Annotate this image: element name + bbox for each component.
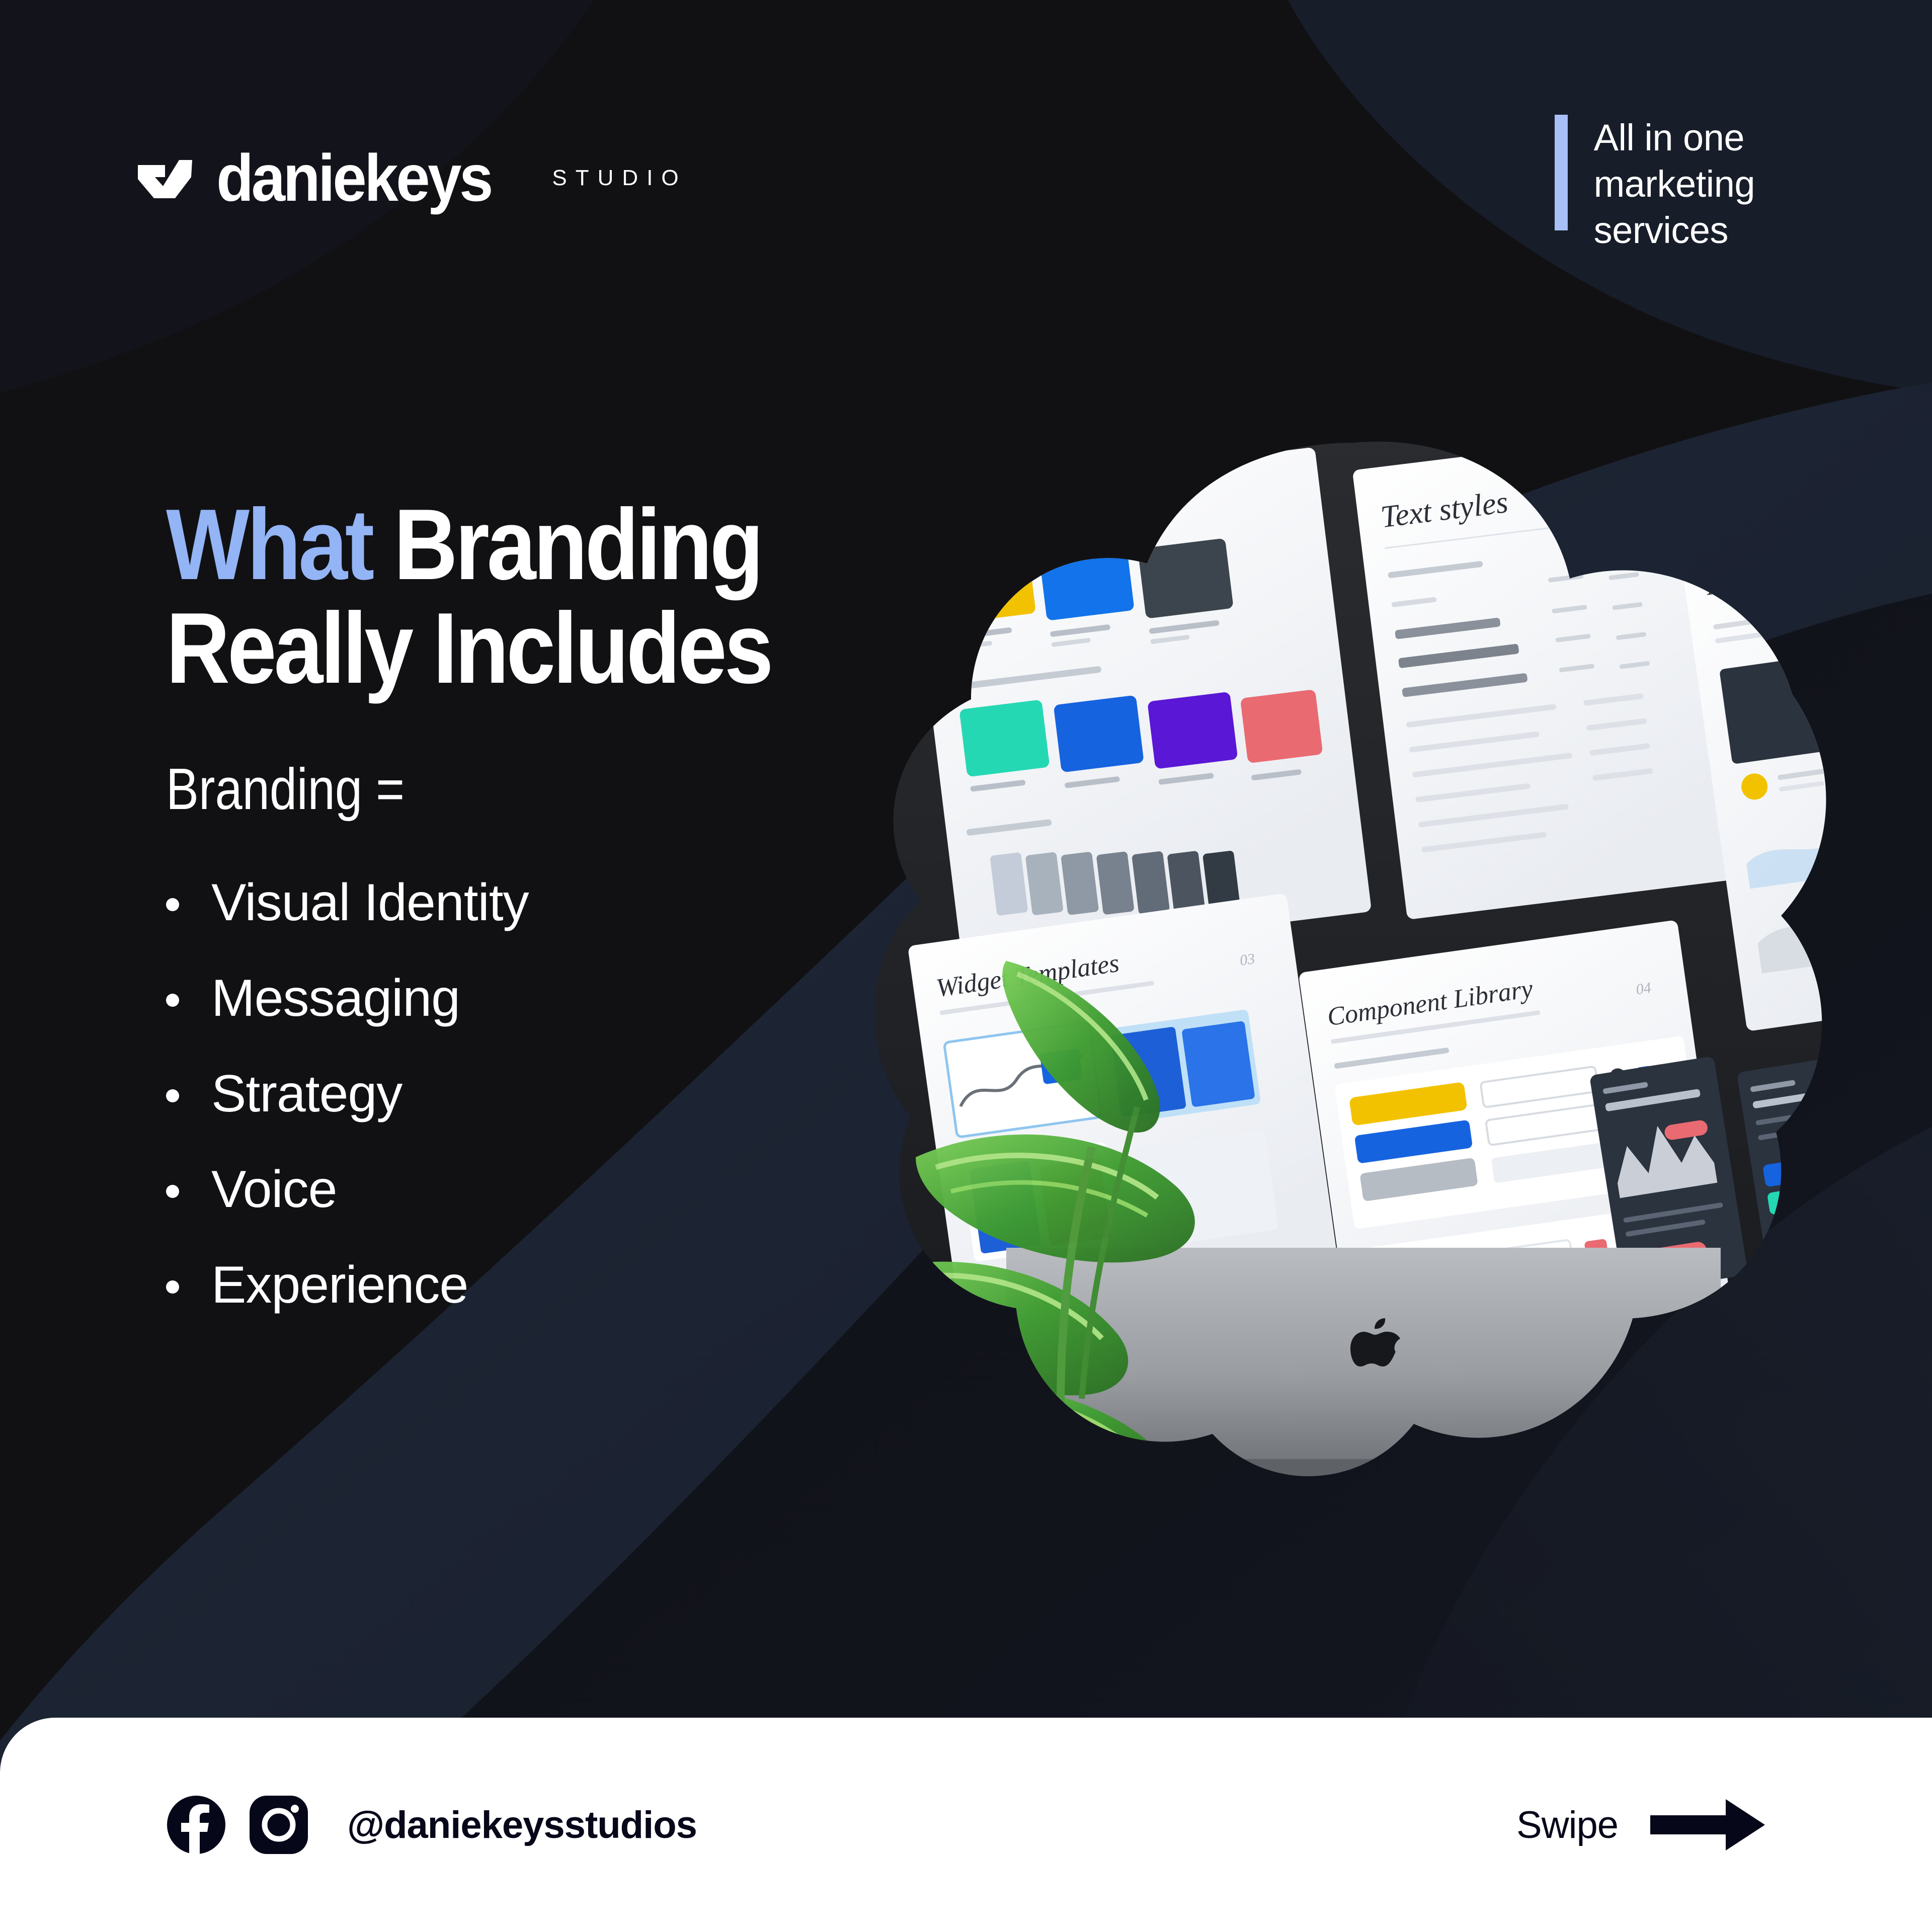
benefits-list: Visual Identity Messaging Strategy Voice… [166,876,901,1311]
header: daniekeys STUDIO All in one marketing se… [0,0,1932,312]
bullet-dot-icon [166,994,179,1007]
brand-suffix: STUDIO [552,166,687,191]
bullet-dot-icon [166,898,179,911]
checkmark-ribbon-logo-icon [137,155,196,201]
mockup-image: Text styles [855,413,1852,1509]
svg-text:03: 03 [1239,950,1256,969]
list-item-label: Voice [211,1163,337,1216]
instagram-icon[interactable] [249,1795,309,1855]
swipe-label: Swipe [1516,1803,1618,1847]
tagline-text: All in one marketing services [1594,115,1755,253]
social-group: @daniekeysstudios [166,1795,697,1855]
social-post-canvas: daniekeys STUDIO All in one marketing se… [0,0,1932,1932]
tagline-accent-bar [1555,115,1568,230]
list-item: Experience [166,1259,901,1311]
list-item-label: Messaging [211,972,460,1024]
brand-name: daniekeys [216,145,491,211]
swipe-cta[interactable]: Swipe [1516,1795,1766,1855]
bullet-dot-icon [166,1089,179,1102]
bullet-dot-icon [166,1280,179,1294]
list-item: Voice [166,1163,901,1216]
social-handle[interactable]: @daniekeysstudios [347,1803,697,1847]
headline-accent-word: What [166,489,372,601]
svg-text:04: 04 [1635,980,1652,998]
list-item: Visual Identity [166,876,901,929]
facebook-icon[interactable] [166,1795,226,1855]
list-item-label: Visual Identity [211,876,529,929]
list-item-label: Strategy [211,1068,402,1120]
subhead: Branding = [166,760,783,818]
copy-column: What Branding Really Includes Branding =… [166,493,901,1354]
tagline: All in one marketing services [1555,115,1755,253]
brand-lockup[interactable]: daniekeys STUDIO [137,145,687,211]
list-item: Messaging [166,972,901,1024]
bullet-dot-icon [166,1185,179,1198]
list-item: Strategy [166,1068,901,1120]
list-item-label: Experience [211,1259,468,1311]
footer-bar: @daniekeysstudios Swipe [0,1718,1932,1932]
svg-text:App: App [1703,564,1754,602]
page-title: What Branding Really Includes [166,493,813,700]
design-system-mockup-illustration: Text styles [855,413,1852,1509]
arrow-right-icon [1650,1795,1766,1855]
